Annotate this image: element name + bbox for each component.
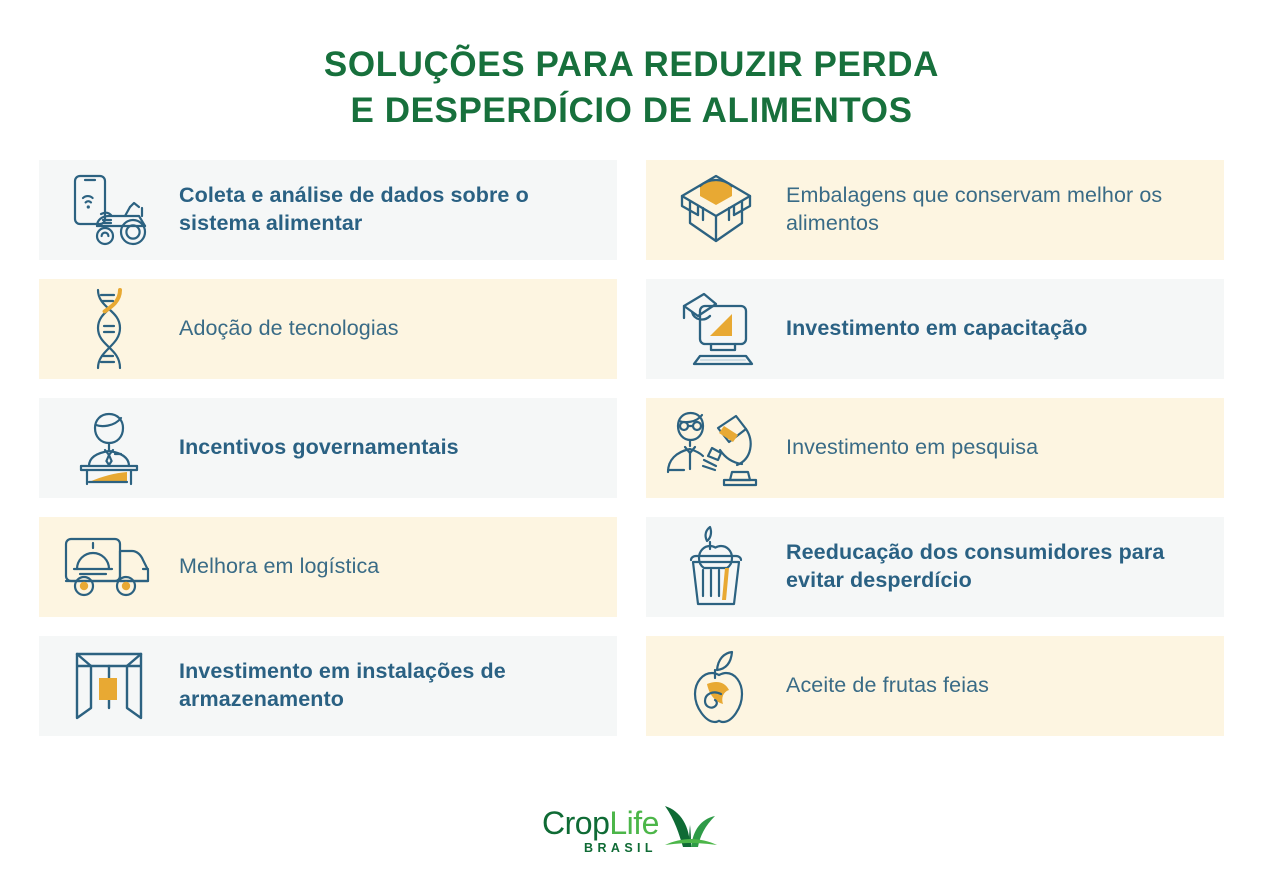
solution-card-label: Adoção de tecnologias — [169, 315, 399, 343]
page-title-line-2: e desperdício de alimentos — [0, 88, 1263, 134]
solution-card-armazenamento[interactable]: Investimento em instalações de armazenam… — [39, 636, 617, 736]
solution-card-label: Aceite de frutas feias — [776, 672, 989, 700]
logo-word-brasil: BRASIL — [584, 842, 657, 855]
dna-helix-icon — [49, 286, 169, 372]
solution-card-label: Investimento em instalações de armazenam… — [169, 658, 603, 714]
phone-tractor-icon — [49, 167, 169, 253]
page-title-line-1: Soluções para reduzir perda — [324, 45, 939, 84]
solutions-grid: Coleta e análise de dados sobre o sistem… — [39, 160, 1225, 736]
left-column: Coleta e análise de dados sobre o sistem… — [39, 160, 617, 736]
solution-card-incentivos[interactable]: Incentivos governamentais — [39, 398, 617, 498]
solution-card-label: Melhora em logística — [169, 553, 379, 581]
solution-card-logistica[interactable]: Melhora em logística — [39, 517, 617, 617]
logo-word-life: Life — [609, 805, 659, 841]
solution-card-label: Investimento em pesquisa — [776, 434, 1038, 462]
solution-card-label: Coleta e análise de dados sobre o sistem… — [169, 182, 603, 238]
apple-trash-bin-icon — [656, 524, 776, 610]
page-title: Soluções para reduzir perda e desperdíci… — [0, 0, 1263, 133]
ugly-apple-icon — [656, 643, 776, 729]
right-column: Embalagens que conservam melhor os alime… — [646, 160, 1224, 736]
warehouse-storage-icon — [49, 643, 169, 729]
logo-word-crop: Crop — [542, 805, 609, 841]
delivery-truck-icon — [49, 524, 169, 610]
solution-card-coleta-dados[interactable]: Coleta e análise de dados sobre o sistem… — [39, 160, 617, 260]
infographic-page: Soluções para reduzir perda e desperdíci… — [0, 0, 1263, 893]
solution-card-label: Investimento em capacitação — [776, 315, 1087, 343]
solution-card-label: Incentivos governamentais — [169, 434, 459, 462]
solution-card-pesquisa[interactable]: Investimento em pesquisa — [646, 398, 1224, 498]
solution-card-tecnologias[interactable]: Adoção de tecnologias — [39, 279, 617, 379]
solution-card-capacitacao[interactable]: Investimento em capacitação — [646, 279, 1224, 379]
government-official-desk-icon — [49, 405, 169, 491]
sprout-plant-icon — [659, 795, 721, 862]
solution-card-reeducacao[interactable]: Reeducação dos consumidores para evitar … — [646, 517, 1224, 617]
scientist-microscope-icon — [656, 405, 776, 491]
solution-card-label: Embalagens que conservam melhor os alime… — [776, 182, 1210, 238]
graduation-monitor-icon — [656, 286, 776, 372]
brand-logo: CropLife BRASIL — [0, 795, 1263, 860]
solution-card-frutas-feias[interactable]: Aceite de frutas feias — [646, 636, 1224, 736]
solution-card-embalagens[interactable]: Embalagens que conservam melhor os alime… — [646, 160, 1224, 260]
solution-card-label: Reeducação dos consumidores para evitar … — [776, 539, 1210, 595]
open-box-package-icon — [656, 167, 776, 253]
